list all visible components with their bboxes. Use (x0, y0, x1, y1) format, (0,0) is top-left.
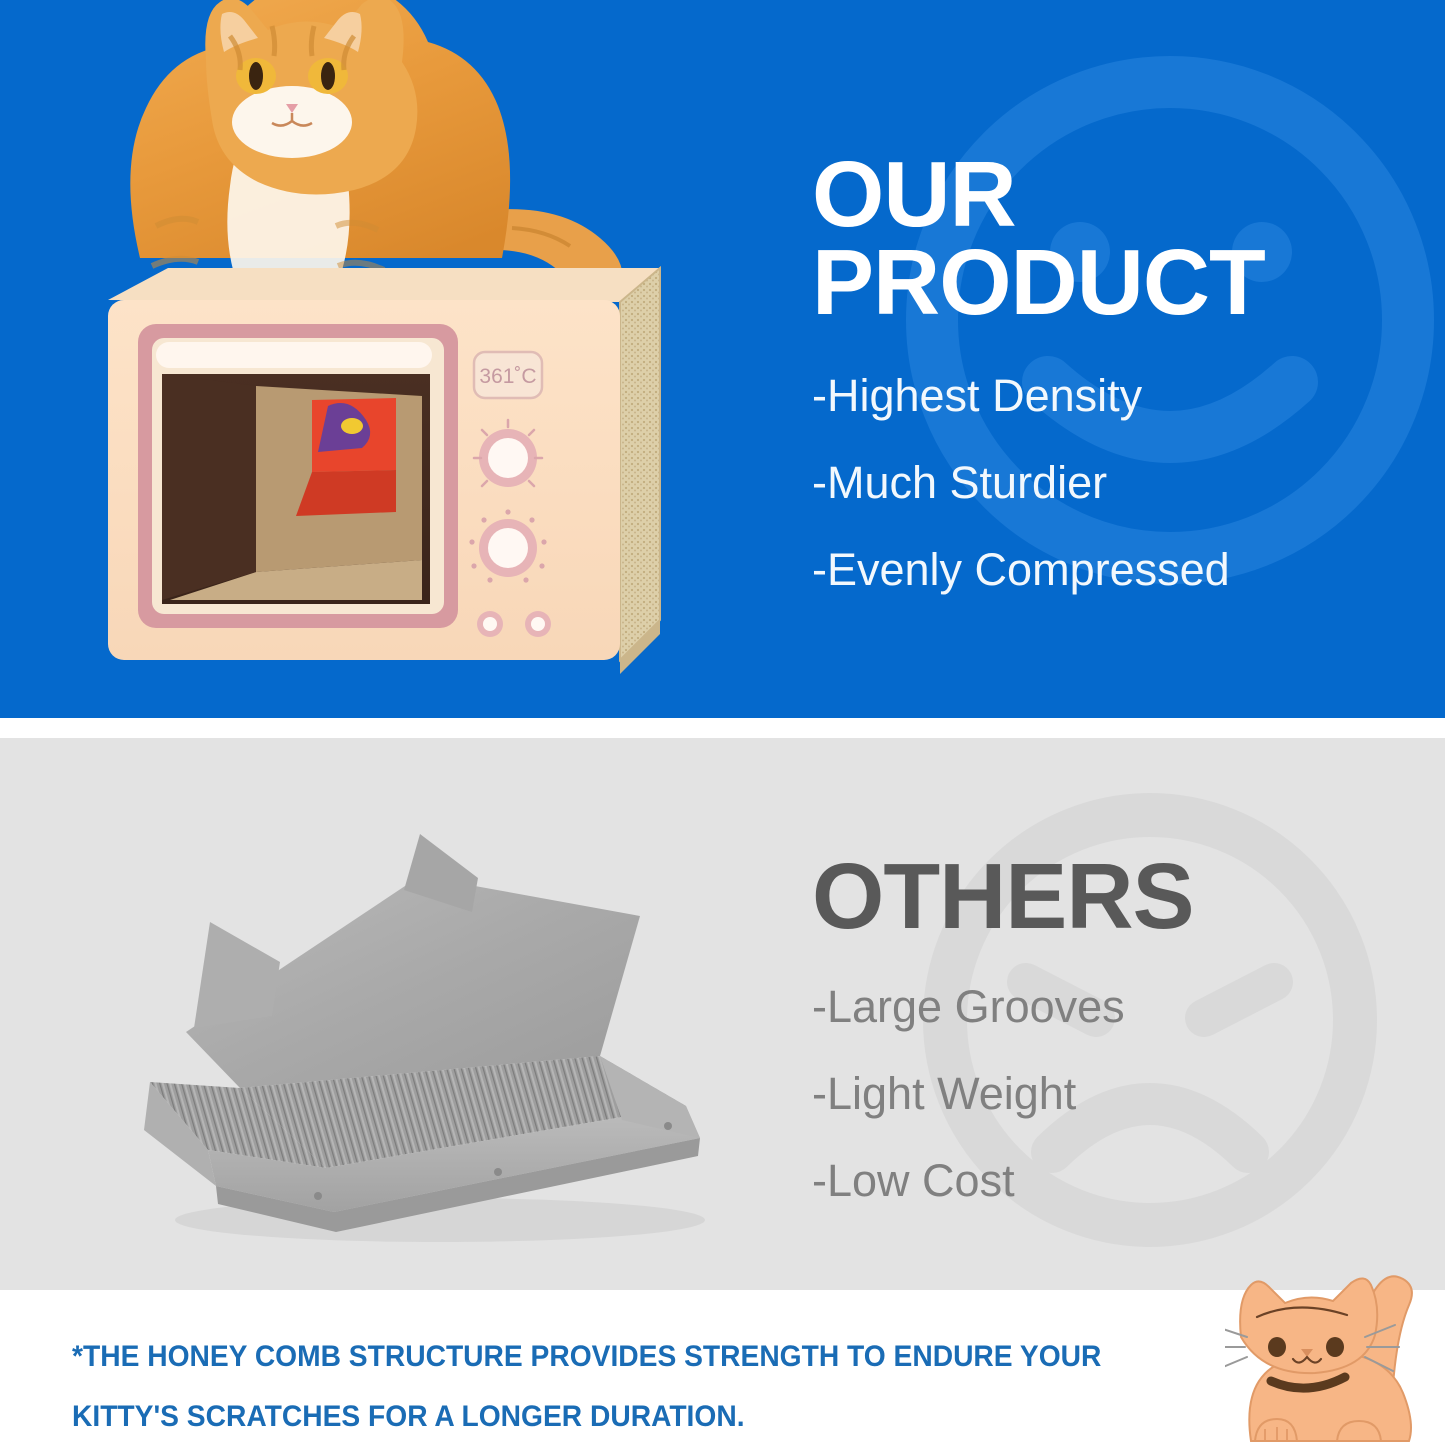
our-product-panel: 361˚C OUR PRODUCT (0, 0, 1445, 718)
product-bullet-list: -Highest Density -Much Sturdier -Evenly … (812, 373, 1412, 592)
others-text-column: OTHERS -Large Grooves -Light Weight -Low… (812, 852, 1412, 1245)
microwave-scratcher-body: 361˚C (108, 268, 660, 674)
others-bullet-3: -Low Cost (812, 1158, 1412, 1203)
footer-note: *THE HONEY COMB STRUCTURE PROVIDES STREN… (72, 1327, 1134, 1447)
product-bullet-1: -Highest Density (812, 373, 1412, 418)
product-text-column: OUR PRODUCT -Highest Density -Much Sturd… (812, 150, 1412, 634)
product-heading-line1: OUR (812, 150, 1412, 238)
others-bullet-1: -Large Grooves (812, 984, 1412, 1029)
others-bullet-list: -Large Grooves -Light Weight -Low Cost (812, 984, 1412, 1203)
product-bullet-2: -Much Sturdier (812, 460, 1412, 505)
product-photo-microwave-scratcher: 361˚C (60, 0, 760, 718)
svg-text:361˚C: 361˚C (479, 365, 536, 388)
others-photo-gray-scratcher (120, 820, 740, 1250)
others-heading: OTHERS (812, 852, 1412, 940)
product-heading-line2: PRODUCT (812, 238, 1412, 326)
others-bullet-2: -Light Weight (812, 1071, 1412, 1116)
cartoon-cat-mascot-icon (1225, 1255, 1435, 1445)
page-title: OUR PRODUCT (812, 150, 1412, 327)
product-bullet-3: -Evenly Compressed (812, 547, 1412, 592)
